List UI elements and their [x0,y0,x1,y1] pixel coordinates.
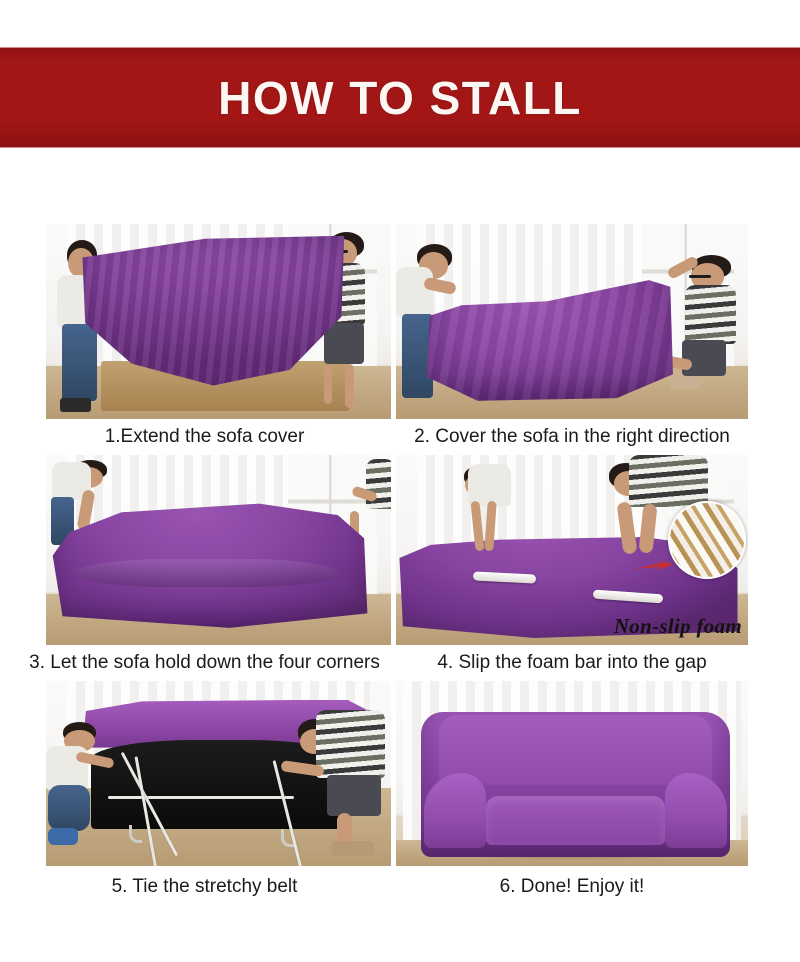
how-to-stall-infographic: HOW TO STALL [0,0,800,962]
leg [345,364,355,408]
step-6: 6. Done! Enjoy it! [396,681,748,908]
non-slip-foam-label: Non-slip foam [614,614,742,639]
step-3-photo [46,455,391,645]
torso [629,455,708,507]
torso [316,710,386,778]
shoe [670,376,699,389]
glasses-icon [689,275,711,278]
page-title: HOW TO STALL [218,75,582,121]
step-6-caption: 6. Done! Enjoy it! [396,866,748,908]
person-right [664,255,748,419]
shorts [327,775,381,815]
person-left [46,722,122,859]
legs [62,324,97,401]
red-arrow-icon [634,561,674,572]
torso [685,285,736,344]
torso [468,464,512,507]
step-2: 2. Cover the sofa in the right direction [396,224,748,455]
step-5: 5. Tie the stretchy belt [46,681,391,908]
shoe [331,841,374,857]
step-6-photo [396,681,748,866]
shoe [60,398,90,412]
arm-2 [484,501,497,552]
sofa-backrest [439,715,712,784]
step-2-caption: 2. Cover the sofa in the right direction [396,419,748,455]
step-4-caption: 4. Slip the foam bar into the gap [396,645,748,681]
strap-horizontal [108,796,294,799]
step-1-photo [46,224,391,419]
step-5-caption: 5. Tie the stretchy belt [46,866,391,908]
arm [617,501,638,554]
arm-2 [638,504,657,554]
shoe [48,828,78,844]
step-2-photo [396,224,748,419]
non-slip-foam-closeup-inset [668,501,746,579]
step-4: Non-slip foam 4. Slip the foam bar into … [396,455,748,681]
seat-crease [76,559,338,588]
person-right [294,707,391,862]
header-banner: HOW TO STALL [0,47,800,148]
shorts [682,340,726,376]
step-1: 1.Extend the sofa cover [46,224,391,455]
legs-crouching [48,785,90,832]
finished-covered-sofa [421,712,731,856]
step-3: 3. Let the sofa hold down the four corne… [46,455,391,681]
shorts [324,323,364,363]
sofa-seat [486,796,666,845]
step-1-caption: 1.Extend the sofa cover [46,419,391,455]
step-4-photo: Non-slip foam [396,455,748,645]
steps-grid: 1.Extend the sofa cover [46,224,748,908]
step-5-photo [46,681,391,866]
torso [366,459,391,509]
person-left [452,459,522,584]
step-3-caption: 3. Let the sofa hold down the four corne… [46,645,391,681]
sofa-arm-left [424,773,486,848]
arm [471,501,485,552]
sofa-arm-right [665,773,727,848]
torso [396,267,433,317]
arm-lower [324,364,332,404]
